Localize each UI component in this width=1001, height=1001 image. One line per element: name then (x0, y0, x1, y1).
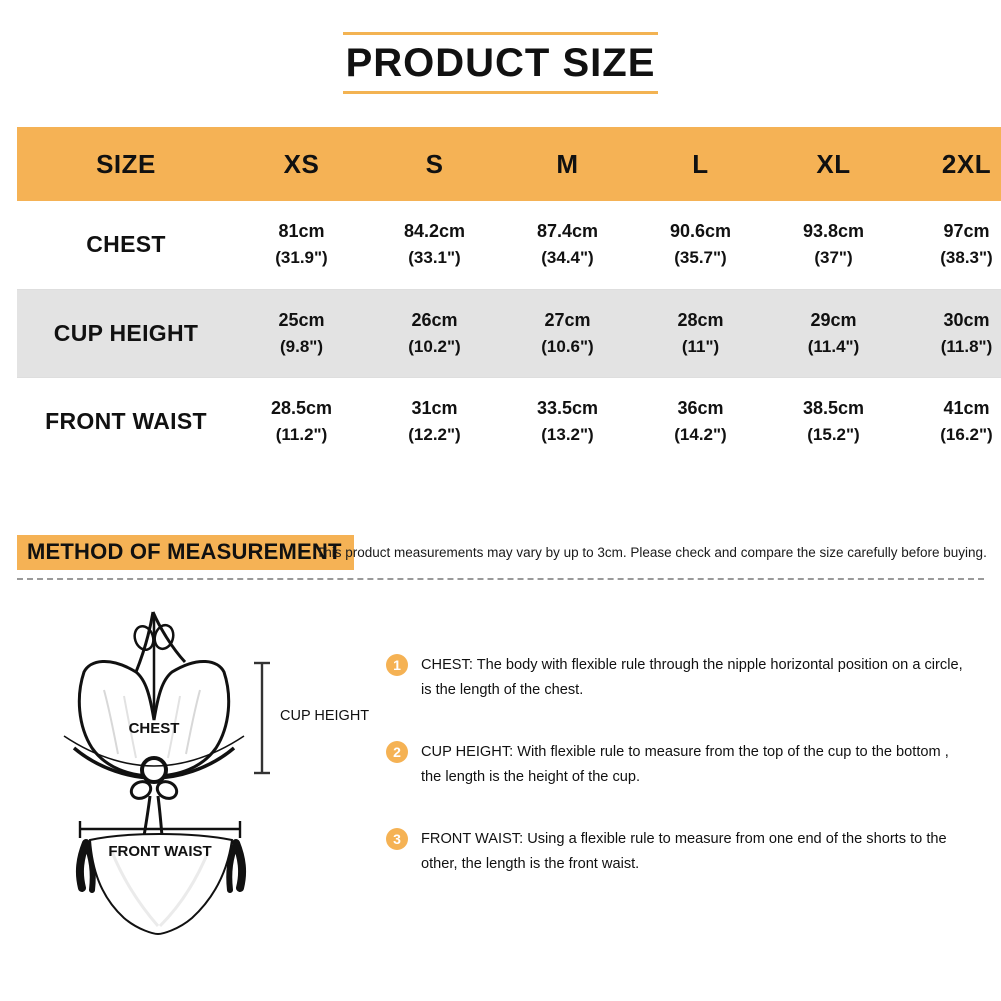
measurement-disclaimer: This product measurements may vary by up… (316, 544, 987, 562)
section-divider (17, 578, 984, 580)
cell-chest-l: 90.6cm (35.7") (634, 201, 767, 289)
swimsuit-illustration: CHEST CUP HEIGHT FRONT WA (40, 600, 370, 945)
cell-front-waist-m: 33.5cm (13.2") (501, 377, 634, 465)
step-text-1: CHEST: The body with flexible rule throu… (421, 653, 966, 703)
front-waist-measure-label: FRONT WAIST (108, 843, 211, 860)
cell-chest-m: 87.4cm (34.4") (501, 201, 634, 289)
cell-cup-height-2xl: 30cm (11.8") (900, 289, 1001, 377)
header-cell-size: SIZE (17, 127, 235, 201)
size-table-header-row: SIZE XS S M L XL 2XL (17, 127, 1001, 201)
size-table: SIZE XS S M L XL 2XL CHEST 81cm (31.9") … (17, 127, 1001, 465)
list-item: 2 CUP HEIGHT: With flexible rule to meas… (386, 740, 986, 790)
cell-front-waist-s: 31cm (12.2") (368, 377, 501, 465)
page-title: PRODUCT SIZE (343, 35, 658, 91)
cell-cup-height-xs: 25cm (9.8") (235, 289, 368, 377)
cell-front-waist-xl: 38.5cm (15.2") (767, 377, 900, 465)
list-item: 1 CHEST: The body with flexible rule thr… (386, 653, 986, 703)
cup-height-measure-label: CUP HEIGHT (280, 708, 369, 724)
cell-front-waist-l: 36cm (14.2") (634, 377, 767, 465)
row-label-cup-height: CUP HEIGHT (17, 289, 235, 377)
cell-chest-s: 84.2cm (33.1") (368, 201, 501, 289)
header-cell-xs: XS (235, 127, 368, 201)
method-of-measurement-badge: METHOD OF MEASUREMENT (17, 535, 354, 570)
chest-measure-label: CHEST (129, 720, 180, 737)
cell-cup-height-s: 26cm (10.2") (368, 289, 501, 377)
step-number-badge-3: 3 (386, 828, 408, 850)
list-item: 3 FRONT WAIST: Using a flexible rule to … (386, 827, 986, 877)
row-label-front-waist: FRONT WAIST (17, 377, 235, 465)
measurement-instructions: 1 CHEST: The body with flexible rule thr… (386, 653, 986, 914)
page-title-block: PRODUCT SIZE (343, 32, 658, 94)
header-cell-s: S (368, 127, 501, 201)
table-row: FRONT WAIST 28.5cm (11.2") 31cm (12.2") … (17, 377, 1001, 465)
table-row: CHEST 81cm (31.9") 84.2cm (33.1") 87.4cm… (17, 201, 1001, 289)
cell-front-waist-xs: 28.5cm (11.2") (235, 377, 368, 465)
cell-cup-height-l: 28cm (11") (634, 289, 767, 377)
header-cell-xl: XL (767, 127, 900, 201)
header-cell-2xl: 2XL (900, 127, 1001, 201)
cell-front-waist-2xl: 41cm (16.2") (900, 377, 1001, 465)
table-row: CUP HEIGHT 25cm (9.8") 26cm (10.2") 27cm… (17, 289, 1001, 377)
step-text-2: CUP HEIGHT: With flexible rule to measur… (421, 740, 966, 790)
header-cell-l: L (634, 127, 767, 201)
cell-chest-xl: 93.8cm (37") (767, 201, 900, 289)
step-number-badge-2: 2 (386, 741, 408, 763)
header-cell-m: M (501, 127, 634, 201)
step-number-badge-1: 1 (386, 654, 408, 676)
cell-cup-height-xl: 29cm (11.4") (767, 289, 900, 377)
step-text-3: FRONT WAIST: Using a flexible rule to me… (421, 827, 966, 877)
cell-chest-2xl: 97cm (38.3") (900, 201, 1001, 289)
row-label-chest: CHEST (17, 201, 235, 289)
cell-cup-height-m: 27cm (10.6") (501, 289, 634, 377)
cup-height-bracket (254, 663, 270, 773)
title-rule-bottom (343, 91, 658, 94)
cell-chest-xs: 81cm (31.9") (235, 201, 368, 289)
